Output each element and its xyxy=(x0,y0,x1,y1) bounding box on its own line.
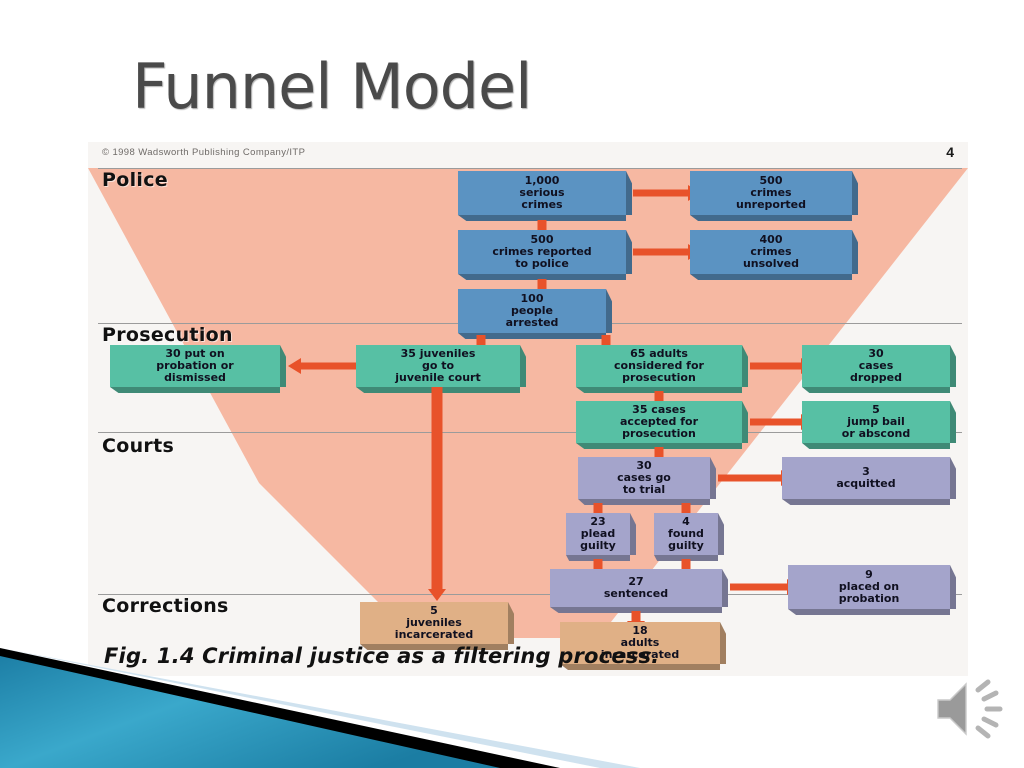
box-line-3: dismissed xyxy=(164,372,226,384)
figure-image: © 1998 Wadsworth Publishing Company/ITP … xyxy=(88,142,968,676)
copyright-notice: © 1998 Wadsworth Publishing Company/ITP xyxy=(102,147,305,158)
box-line-1: 65 adults xyxy=(630,348,688,360)
box-line-1: 9 xyxy=(865,569,873,581)
box-line-3: guilty xyxy=(580,540,616,552)
box-line-1: 30 put on xyxy=(165,348,224,360)
band-label-corrections: Corrections xyxy=(102,595,229,617)
box-line-3: unsolved xyxy=(743,258,799,270)
band-label-courts: Courts xyxy=(102,435,174,457)
figure-caption: Fig. 1.4 Criminal justice as a filtering… xyxy=(104,644,659,668)
speaker-icon[interactable] xyxy=(932,674,1006,744)
box-cases-accepted: 35 cases accepted for prosecution xyxy=(576,401,742,443)
box-line-1: 30 xyxy=(868,348,883,360)
box-line-3: or abscond xyxy=(842,428,910,440)
box-line-1: 1,000 xyxy=(525,175,560,187)
box-line-1: 100 xyxy=(521,293,544,305)
box-line-3: dropped xyxy=(850,372,902,384)
box-crimes-reported: 500 crimes reported to police xyxy=(458,230,626,274)
arrow-juvenile-to-incarcerated xyxy=(426,387,448,601)
box-line-2: sentenced xyxy=(604,588,668,600)
box-line-1: 35 juveniles xyxy=(401,348,476,360)
band-label-police: Police xyxy=(102,169,168,191)
box-line-3: prosecution xyxy=(622,428,696,440)
page-title: Funnel Model xyxy=(132,50,531,123)
box-placed-on-probation: 9 placed on probation xyxy=(788,565,950,609)
box-juveniles-incarcerated: 5 juveniles incarcerated xyxy=(360,602,508,644)
box-plead-guilty: 23 plead guilty xyxy=(566,513,630,555)
box-jump-bail: 5 jump bail or abscond xyxy=(802,401,950,443)
box-line-1: 4 xyxy=(682,516,690,528)
box-line-3: juvenile court xyxy=(395,372,481,384)
box-line-1: 23 xyxy=(590,516,605,528)
box-line-1: 5 xyxy=(872,404,880,416)
box-line-3: to trial xyxy=(623,484,665,496)
box-line-2: acquitted xyxy=(836,478,895,490)
box-line-3: arrested xyxy=(506,317,559,329)
box-crimes-unsolved: 400 crimes unsolved xyxy=(690,230,852,274)
box-line-3: probation xyxy=(839,593,900,605)
box-line-1: 30 xyxy=(636,460,651,472)
box-line-3: prosecution xyxy=(622,372,696,384)
box-line-3: incarcerated xyxy=(395,629,473,641)
box-line-3: guilty xyxy=(668,540,704,552)
page-number: 4 xyxy=(946,144,954,160)
box-probation-or-dismissed: 30 put on probation or dismissed xyxy=(110,345,280,387)
box-line-3: to police xyxy=(515,258,569,270)
box-serious-crimes: 1,000 serious crimes xyxy=(458,171,626,215)
box-line-1: 35 cases xyxy=(632,404,686,416)
box-line-3: crimes xyxy=(521,199,562,211)
arrow-juvenile-to-probation xyxy=(288,358,358,374)
box-line-1: 500 xyxy=(760,175,783,187)
box-acquitted: 3 acquitted xyxy=(782,457,950,499)
box-adults-considered: 65 adults considered for prosecution xyxy=(576,345,742,387)
box-crimes-unreported: 500 crimes unreported xyxy=(690,171,852,215)
band-rule-police xyxy=(98,168,962,169)
box-found-guilty: 4 found guilty xyxy=(654,513,718,555)
box-sentenced: 27 sentenced xyxy=(550,569,722,607)
box-cases-dropped: 30 cases dropped xyxy=(802,345,950,387)
band-label-prosecution: Prosecution xyxy=(102,324,233,346)
box-line-1: 500 xyxy=(531,234,554,246)
box-line-1: 18 xyxy=(632,625,647,637)
box-juvenile-court: 35 juveniles go to juvenile court xyxy=(356,345,520,387)
box-cases-go-to-trial: 30 cases go to trial xyxy=(578,457,710,499)
box-line-1: 5 xyxy=(430,605,438,617)
box-people-arrested: 100 people arrested xyxy=(458,289,606,333)
box-line-3: unreported xyxy=(736,199,806,211)
box-line-1: 400 xyxy=(760,234,783,246)
